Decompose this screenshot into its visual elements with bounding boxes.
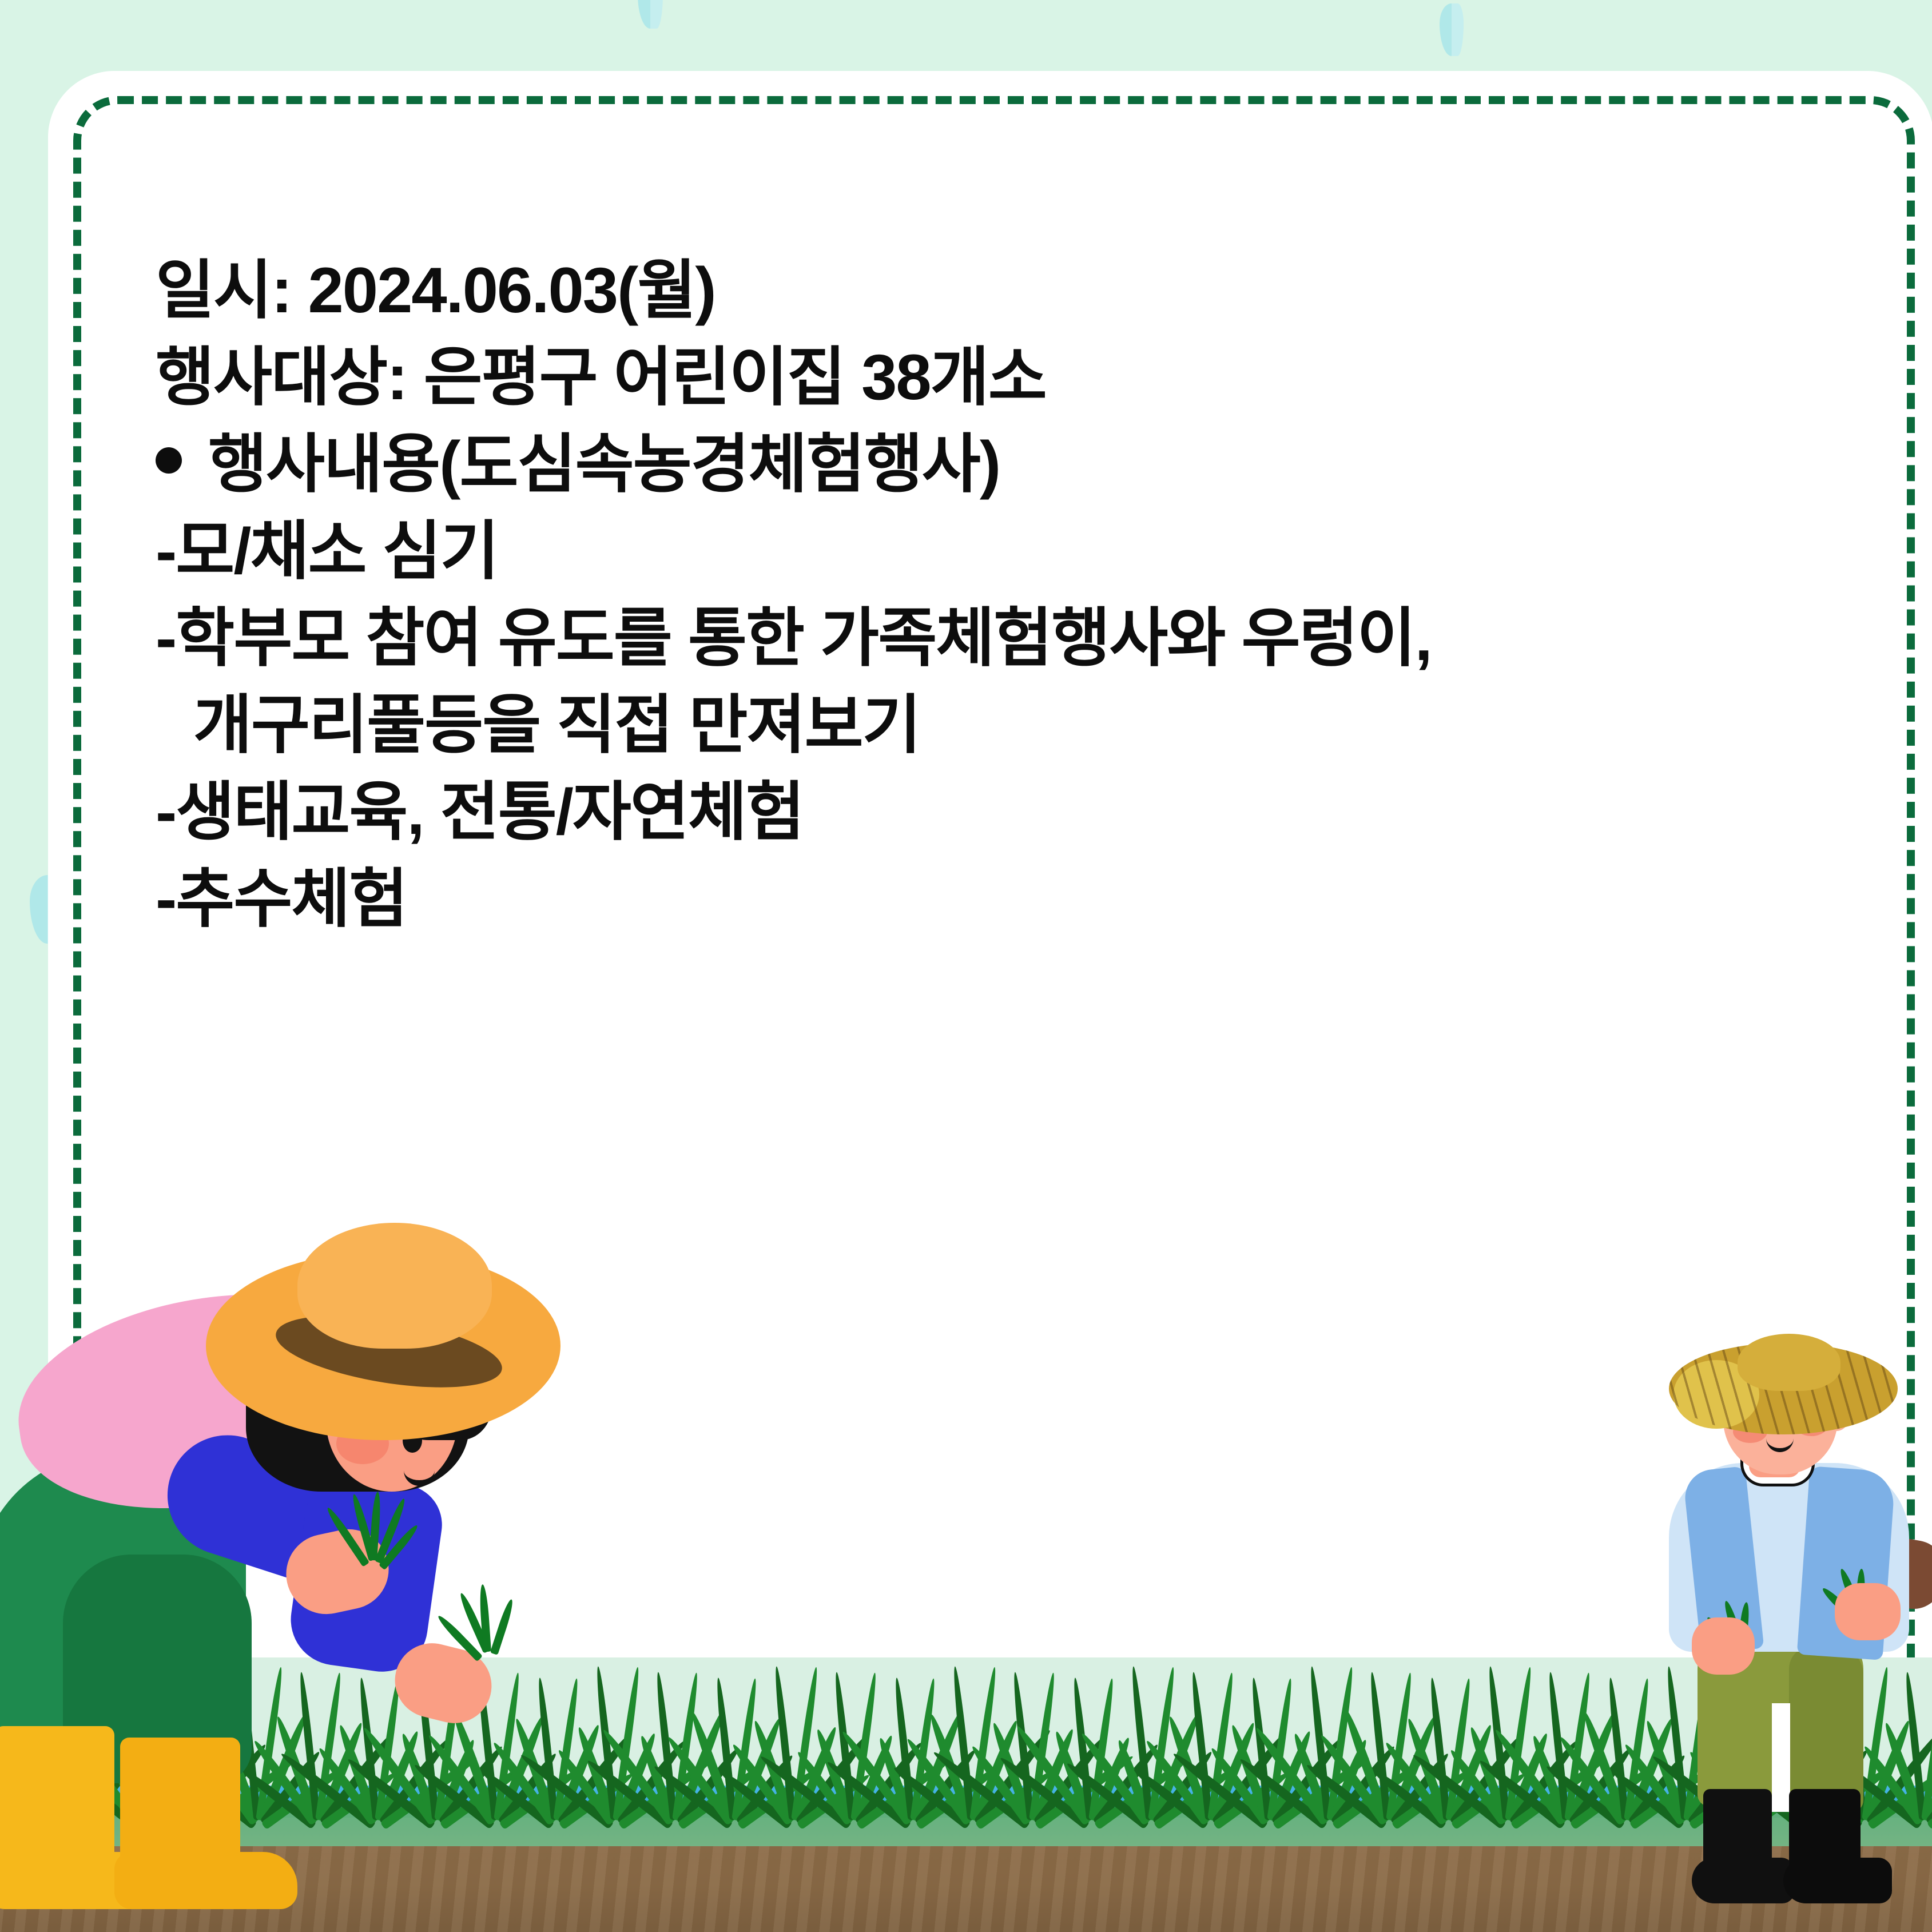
- right-farmer-hand-left: [1692, 1617, 1755, 1675]
- raindrop-icon: [1440, 3, 1464, 56]
- left-farmer-illustration: [0, 1234, 583, 1909]
- bullet-dot-icon: [156, 447, 182, 474]
- event-item-2-continuation: 개구리풀등을 직접 만져보기: [156, 682, 1814, 769]
- seedling-bunch-upper: [320, 1480, 418, 1560]
- left-farmer-straw-hat-crown: [297, 1223, 492, 1349]
- raindrop-icon: [638, 0, 663, 29]
- raindrop-icon: [30, 875, 65, 944]
- event-audience-line: 행사대상: 은평구 어린이집 38개소: [156, 334, 1814, 421]
- event-date-line: 일시: 2024.06.03(월): [156, 247, 1814, 334]
- right-farmer-pants-shadow: [1789, 1646, 1863, 1812]
- right-farmer-boot-right-foot: [1783, 1858, 1892, 1903]
- event-item-1: -모/채소 심기: [156, 508, 1814, 595]
- event-details-text: 일시: 2024.06.03(월) 행사대상: 은평구 어린이집 38개소 행사…: [156, 247, 1814, 943]
- event-program-label: 행사내용(도심속농경체험행사): [208, 428, 1000, 500]
- event-program-line: 행사내용(도심속농경체험행사): [156, 421, 1814, 508]
- event-item-4: -추수체험: [156, 856, 1814, 943]
- event-item-3: -생태교육, 전통/자연체험: [156, 769, 1814, 856]
- right-farmer-boot-left-foot: [1692, 1858, 1795, 1903]
- right-farmer-illustration: [1606, 1326, 1926, 1903]
- seedling-bunch-lower: [435, 1577, 532, 1652]
- poster-canvas: 일시: 2024.06.03(월) 행사대상: 은평구 어린이집 38개소 행사…: [0, 0, 1932, 1932]
- rice-paddy-scene: [0, 1566, 1932, 1932]
- event-item-2: -학부모 참여 유도를 통한 가족체험행사와 우렁이,: [156, 595, 1814, 682]
- right-farmer-pants-gap: [1772, 1703, 1790, 1812]
- left-farmer-boot-right-foot: [114, 1852, 297, 1909]
- right-farmer-straw-hat-crown: [1738, 1334, 1840, 1391]
- right-farmer-hand-right: [1835, 1583, 1901, 1640]
